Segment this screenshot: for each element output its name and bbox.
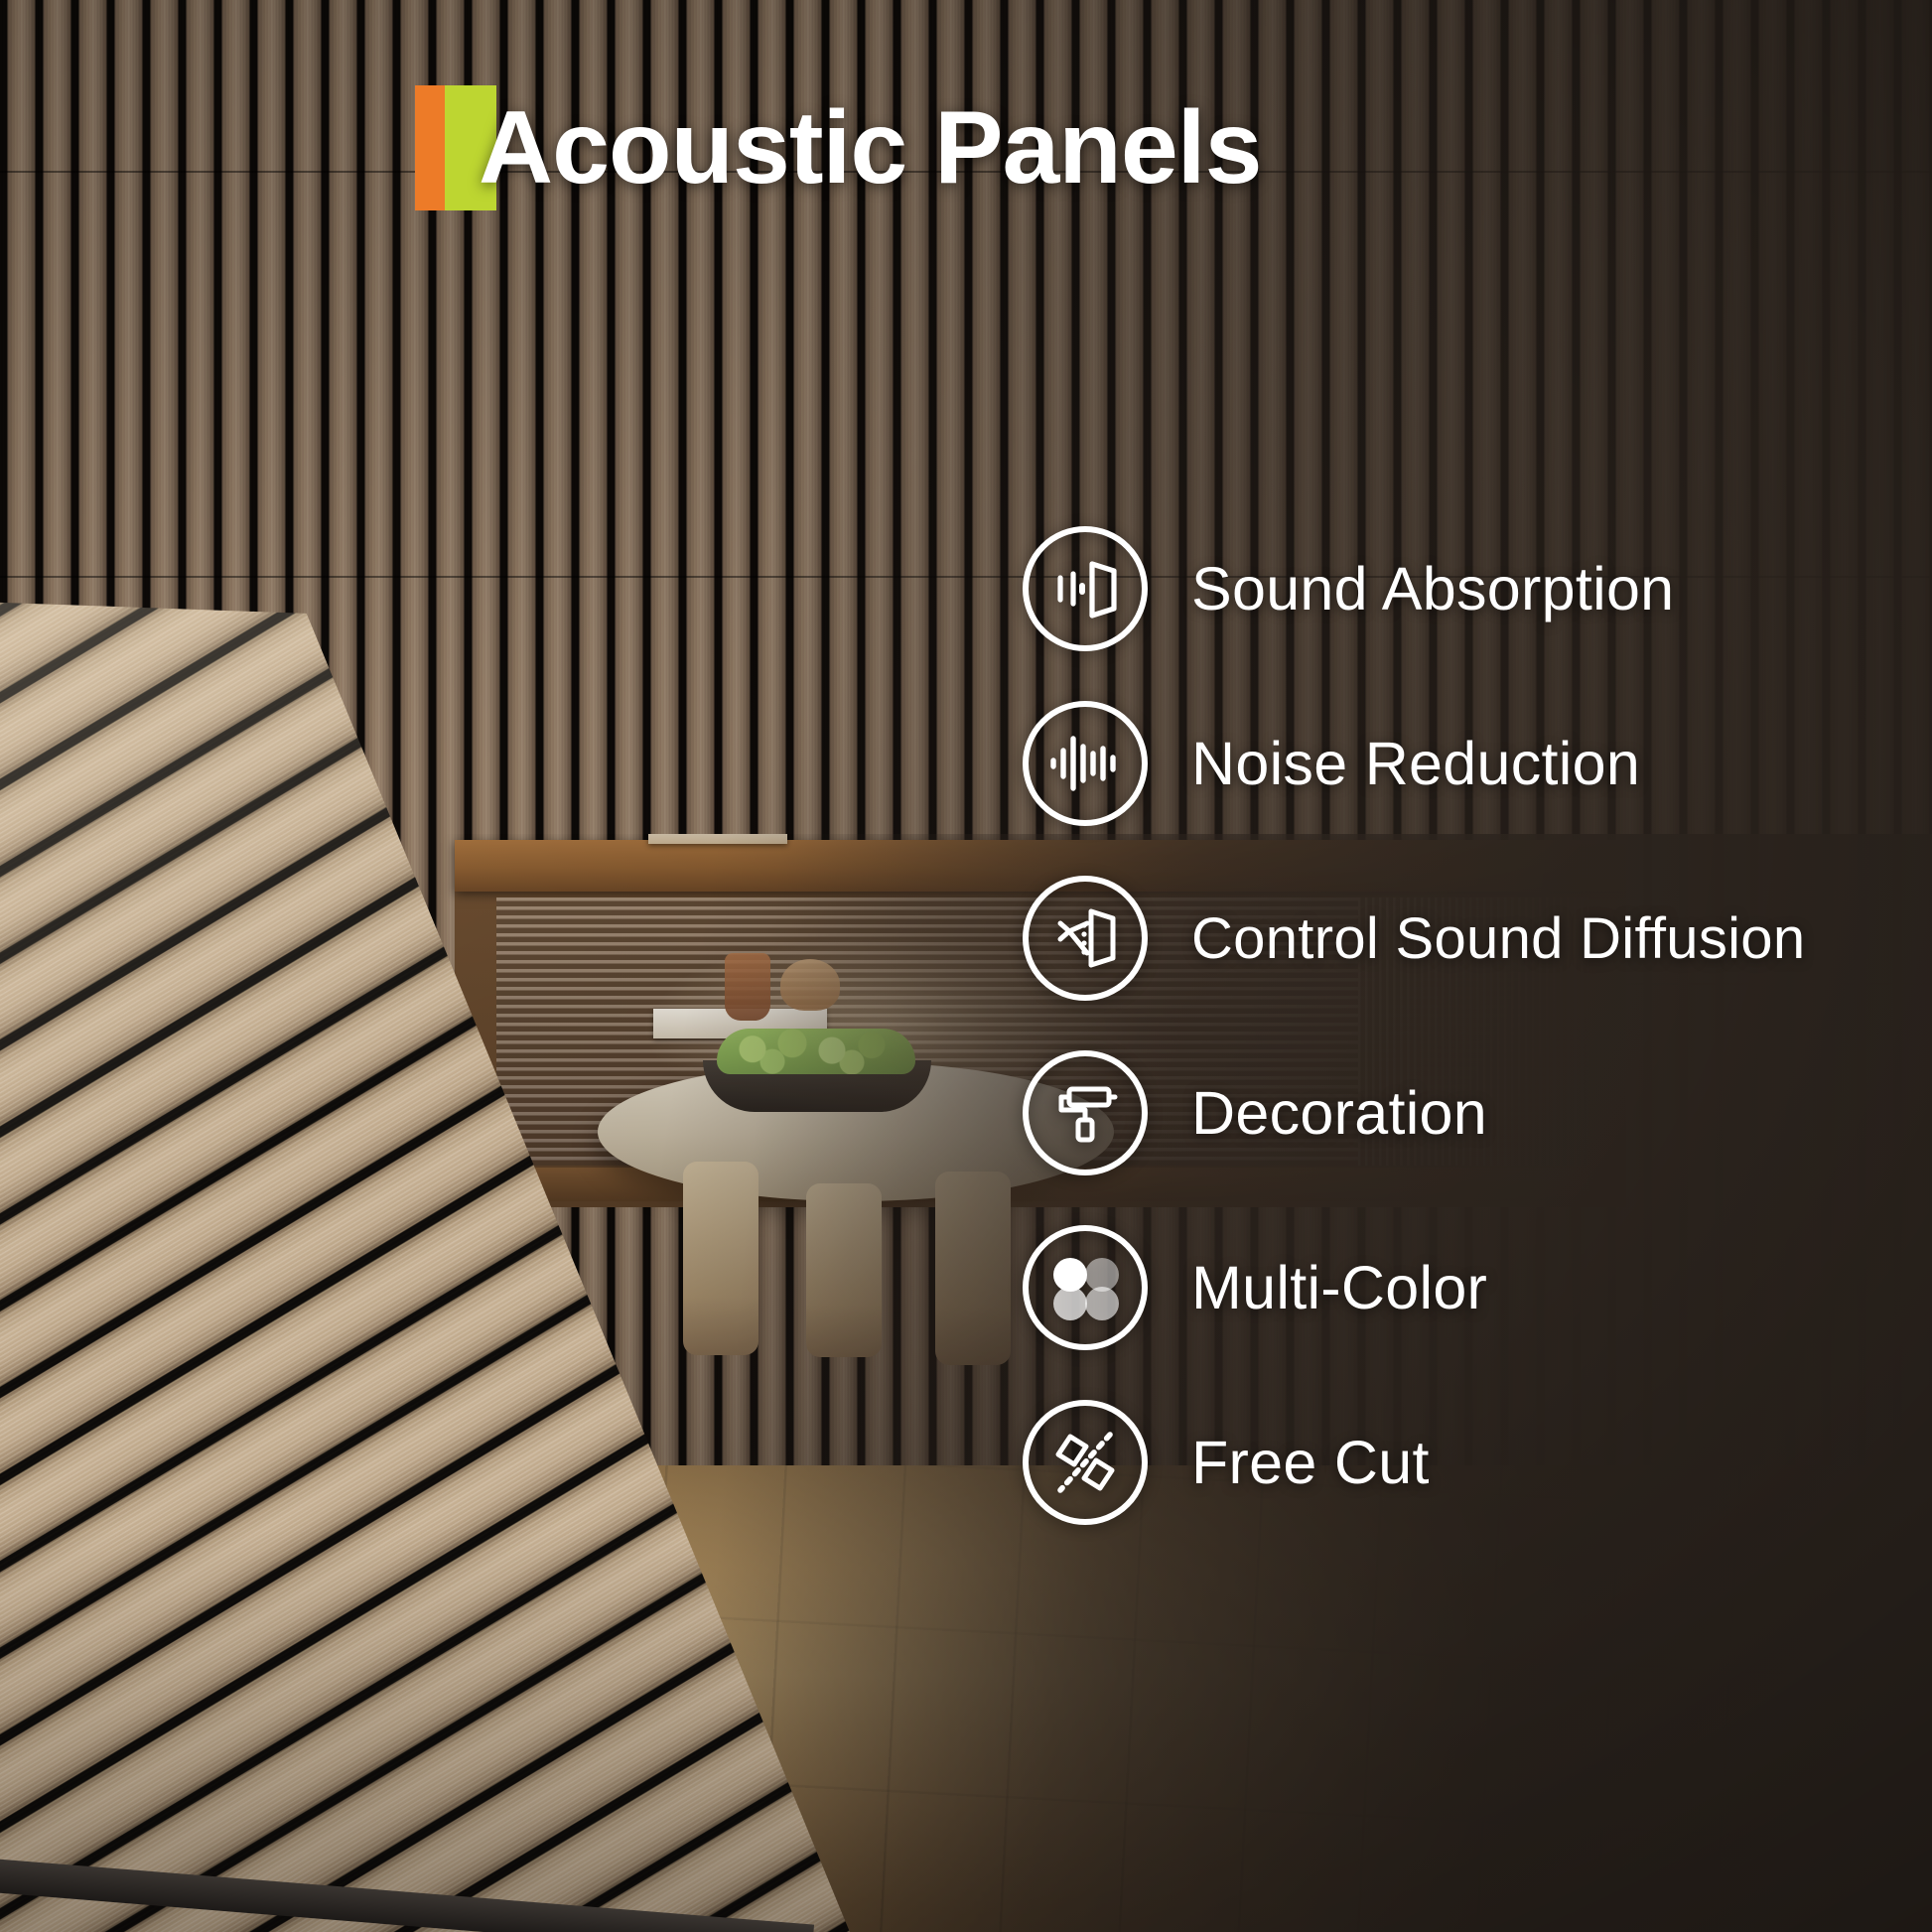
feature-item-control-sound-diffusion: Control Sound Diffusion [1023, 870, 1896, 1007]
feature-item-free-cut: Free Cut [1023, 1394, 1896, 1531]
feature-label: Noise Reduction [1191, 729, 1640, 798]
color-swatches-icon [1023, 1225, 1148, 1350]
feature-label: Free Cut [1191, 1428, 1430, 1497]
page-title: Acoustic Panels [479, 96, 1261, 200]
feature-item-decoration: Decoration [1023, 1044, 1896, 1181]
sound-absorption-icon [1023, 526, 1148, 651]
feature-label: Control Sound Diffusion [1191, 905, 1805, 972]
feature-item-noise-reduction: Noise Reduction [1023, 695, 1896, 832]
feature-list: Sound Absorption Noise Reduction [1023, 520, 1896, 1569]
feature-label: Sound Absorption [1191, 554, 1674, 623]
free-cut-icon [1023, 1400, 1148, 1525]
feature-label: Decoration [1191, 1078, 1487, 1148]
sound-diffusion-icon [1023, 876, 1148, 1001]
feature-label: Multi-Color [1191, 1253, 1487, 1322]
feature-item-sound-absorption: Sound Absorption [1023, 520, 1896, 657]
accent-bar-orange [415, 85, 445, 210]
page-title-block: Acoustic Panels [415, 85, 1261, 210]
product-infographic: Acoustic Panels Sound Absorption [0, 0, 1932, 1932]
waveform-icon [1023, 701, 1148, 826]
paint-roller-icon [1023, 1050, 1148, 1175]
feature-item-multi-color: Multi-Color [1023, 1219, 1896, 1356]
